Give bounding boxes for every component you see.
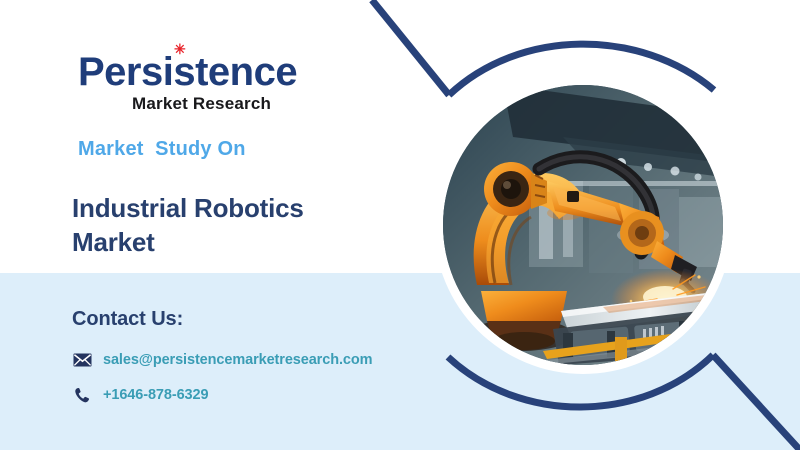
banner-canvas: Persistence ✳ Market Research Market Stu… bbox=[0, 0, 800, 450]
eyebrow-text: Market Study On bbox=[78, 138, 246, 161]
page-title: Industrial Robotics Market bbox=[72, 192, 372, 260]
logo-star-icon: ✳ bbox=[174, 45, 183, 54]
contact-phone-row[interactable]: +1646-878-6329 bbox=[72, 385, 208, 405]
hero-image-robotic-arm bbox=[443, 85, 723, 365]
brand-logo[interactable]: Persistence ✳ Market Research bbox=[78, 52, 378, 112]
logo-tagline: Market Research bbox=[132, 95, 378, 112]
envelope-icon bbox=[72, 350, 92, 370]
contact-email-text[interactable]: sales@persistencemarketresearch.com bbox=[103, 352, 372, 368]
contact-email-row[interactable]: sales@persistencemarketresearch.com bbox=[72, 350, 372, 370]
logo-name: Persistence bbox=[78, 50, 297, 94]
logo-wordmark: Persistence ✳ bbox=[78, 52, 297, 92]
hero-image-ring bbox=[434, 76, 732, 374]
contact-heading: Contact Us: bbox=[72, 308, 183, 331]
phone-icon bbox=[72, 385, 92, 405]
contact-phone-text[interactable]: +1646-878-6329 bbox=[103, 387, 208, 403]
